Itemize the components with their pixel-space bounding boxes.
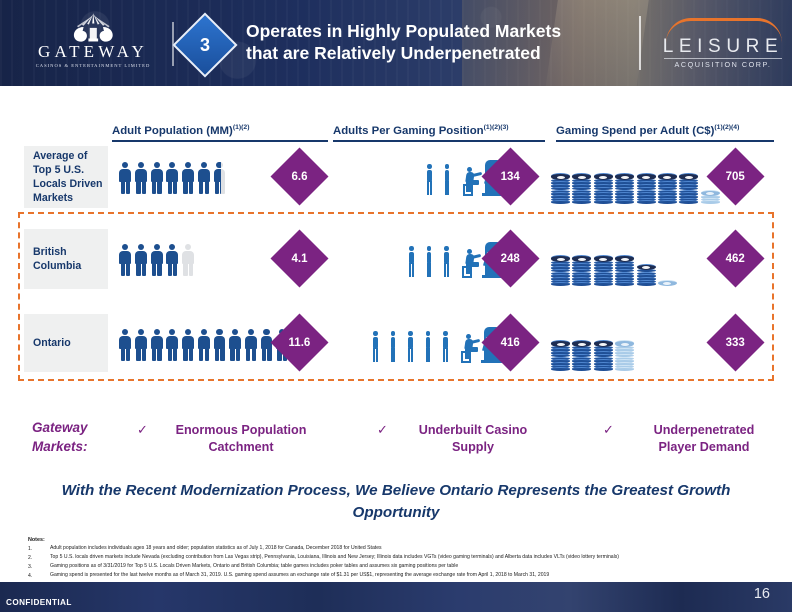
value-badge-text: 6.6 <box>292 171 308 183</box>
note-text-4: Gaming spend is presented for the last t… <box>50 573 549 579</box>
chip-stack-icon <box>615 340 634 371</box>
benefit-line1: Enormous Population <box>152 422 330 439</box>
notes-title: Notes: <box>28 537 45 543</box>
person-icon <box>134 244 149 277</box>
benefit-line2: Player Demand <box>618 439 790 456</box>
gateway-markets-label-line1: Gateway <box>32 419 88 438</box>
standing-person-icon <box>424 163 435 196</box>
column-header-title: Adults Per Gaming Position <box>333 125 484 137</box>
chip-stack-icon <box>551 173 570 204</box>
slide-footer: CONFIDENTIAL 16 <box>0 582 792 612</box>
chip-stack-icon <box>615 255 634 286</box>
slide: GATEWAY CASINOS & ENTERTAINMENT LIMITED … <box>0 0 792 612</box>
note-text-3: Gaming positions as of 3/31/2019 for Top… <box>50 564 458 570</box>
value-badge-text: 705 <box>726 171 745 183</box>
person-icon <box>165 329 180 362</box>
column-header-title: Gaming Spend per Adult (C$) <box>556 125 714 137</box>
person-icon <box>228 329 243 362</box>
chip-stack-icon <box>701 190 720 204</box>
value-badge-text: 4.1 <box>292 253 308 265</box>
standing-person-icon <box>388 330 399 363</box>
header-divider-right <box>639 16 641 70</box>
person-icon-partial <box>212 162 227 195</box>
column-header-adult-population: Adult Population (MM)(1)(2) <box>112 124 249 137</box>
step-number-value: 3 <box>184 24 226 66</box>
person-icon <box>181 162 196 195</box>
chip-stack-icon <box>551 255 570 286</box>
row-label-ontario: Ontario <box>24 314 108 372</box>
row-label-text: British Columbia <box>33 245 108 273</box>
chip-stack-icon <box>594 173 613 204</box>
row-label-british-columbia: British Columbia <box>24 229 108 289</box>
gateway-logo-name: GATEWAY <box>28 43 158 60</box>
person-icon <box>165 162 180 195</box>
page-number: 16 <box>754 586 770 602</box>
standing-person-icon <box>405 330 416 363</box>
person-icon <box>259 329 274 362</box>
slide-title-line2: that are Relatively Underpenetrated <box>246 42 636 64</box>
row-label-average-top5: Average of Top 5 U.S. Locals Driven Mark… <box>24 146 108 208</box>
note-text-2: Top 5 U.S. locals driven markets include… <box>50 555 619 561</box>
person-icon <box>212 329 227 362</box>
person-icon-partial <box>181 244 196 277</box>
column-rule-2 <box>333 140 545 142</box>
person-icon <box>244 329 259 362</box>
person-icon <box>118 329 133 362</box>
tagline-line2: Opportunity <box>40 502 752 524</box>
chip-stack-icon <box>572 173 591 204</box>
person-icon <box>149 329 164 362</box>
standing-person-icon <box>370 330 381 363</box>
gaming-position-icon-group <box>370 327 501 363</box>
check-icon-benefit-2: ✓ <box>603 422 614 438</box>
benefit-underpenetrated-player-demand: Underpenetrated Player Demand <box>618 422 790 455</box>
chip-stack-group <box>551 173 722 204</box>
column-header-footnotes: (1)(2) <box>233 124 250 131</box>
benefit-line2: Catchment <box>152 439 330 456</box>
cell-gaming-spend-row1 <box>551 234 679 286</box>
value-badge-text: 416 <box>501 337 520 349</box>
chip-stack-icon <box>637 173 656 204</box>
column-header-adults-per-position: Adults Per Gaming Position(1)(2)(3) <box>333 124 509 137</box>
gateway-markets-label-line2: Markets: <box>32 438 88 457</box>
slide-header: GATEWAY CASINOS & ENTERTAINMENT LIMITED … <box>0 0 792 86</box>
benefit-line1: Underpenetrated <box>618 422 790 439</box>
cell-gaming-spend-row2 <box>551 319 637 371</box>
people-icon-group <box>118 244 196 277</box>
chip-stack-icon <box>658 280 677 286</box>
standing-person-icon <box>440 330 451 363</box>
cell-adult-population-row1 <box>118 234 196 286</box>
confidential-label: CONFIDENTIAL <box>6 598 72 607</box>
person-icon <box>134 329 149 362</box>
person-icon <box>118 244 133 277</box>
chip-stack-icon <box>637 264 656 286</box>
value-badge-text: 11.6 <box>289 337 311 349</box>
check-icon-benefit-0: ✓ <box>137 422 148 438</box>
note-text-1: Adult population includes individuals ag… <box>50 546 382 552</box>
column-rule-3 <box>556 140 774 142</box>
column-header-footnotes: (1)(2)(4) <box>714 124 739 131</box>
cell-gaming-spend-row0 <box>551 152 722 204</box>
gateway-markets-label: Gateway Markets: <box>32 419 88 456</box>
value-badge-adult-population-row0: 6.6 <box>271 148 329 206</box>
standing-person-icon <box>424 245 435 278</box>
chip-stack-icon <box>572 340 591 371</box>
chip-stack-icon <box>572 255 591 286</box>
standing-person-icon <box>423 330 434 363</box>
person-icon <box>134 162 149 195</box>
column-header-footnotes: (1)(2)(3) <box>484 124 509 131</box>
leisure-logo-tagline: ACQUISITION CORP. <box>660 60 786 69</box>
gateway-logo-tagline: CASINOS & ENTERTAINMENT LIMITED <box>28 63 158 68</box>
leisure-acquisition-logo: LEISURE ACQUISITION CORP. <box>660 18 786 70</box>
note-number-1: 1. <box>28 546 32 552</box>
benefit-underbuilt-casino-supply: Underbuilt Casino Supply <box>392 422 554 455</box>
column-rule-1 <box>112 140 328 142</box>
tagline-line1: With the Recent Modernization Process, W… <box>40 480 752 502</box>
check-icon-benefit-1: ✓ <box>377 422 388 438</box>
value-badge-text: 462 <box>726 253 745 265</box>
cell-adults-per-position-row2 <box>370 317 501 373</box>
chip-stack-icon <box>594 255 613 286</box>
standing-person-icon <box>406 245 417 278</box>
note-number-3: 3. <box>28 564 32 570</box>
person-icon <box>149 244 164 277</box>
chip-stack-icon <box>658 173 677 204</box>
chip-stack-icon <box>679 173 698 204</box>
chip-stack-icon <box>615 173 634 204</box>
standing-person-icon <box>442 163 453 196</box>
crown-icon <box>58 12 129 42</box>
chip-stack-icon <box>594 340 613 371</box>
gateway-logo: GATEWAY CASINOS & ENTERTAINMENT LIMITED <box>28 12 158 76</box>
value-badge-text: 333 <box>726 337 745 349</box>
slide-title: Operates in Highly Populated Markets tha… <box>246 20 636 65</box>
chip-stack-group <box>551 340 637 371</box>
row-label-text: Ontario <box>33 336 71 350</box>
person-icon <box>196 329 211 362</box>
person-icon <box>118 162 133 195</box>
benefit-line1: Underbuilt Casino <box>392 422 554 439</box>
standing-person-icon <box>441 245 452 278</box>
value-badge-text: 134 <box>501 171 520 183</box>
note-number-4: 4. <box>28 573 32 579</box>
benefit-enormous-population-catchment: Enormous Population Catchment <box>152 422 330 455</box>
column-header-title: Adult Population (MM) <box>112 125 233 137</box>
person-icon <box>196 162 211 195</box>
people-icon-group <box>118 162 228 195</box>
chip-stack-icon <box>551 340 570 371</box>
leisure-logo-rule <box>664 58 782 59</box>
column-header-gaming-spend: Gaming Spend per Adult (C$)(1)(2)(4) <box>556 124 739 137</box>
leisure-logo-name: LEISURE <box>660 36 786 58</box>
slide-title-line1: Operates in Highly Populated Markets <box>246 20 636 42</box>
row-label-text: Average of Top 5 U.S. Locals Driven Mark… <box>33 149 108 205</box>
note-number-2: 2. <box>28 555 32 561</box>
cell-adult-population-row0 <box>118 152 228 204</box>
slide-tagline: With the Recent Modernization Process, W… <box>40 480 752 524</box>
person-icon <box>165 244 180 277</box>
value-badge-text: 248 <box>501 253 520 265</box>
benefit-line2: Supply <box>392 439 554 456</box>
chip-stack-group <box>551 255 679 286</box>
person-icon <box>149 162 164 195</box>
person-icon <box>181 329 196 362</box>
